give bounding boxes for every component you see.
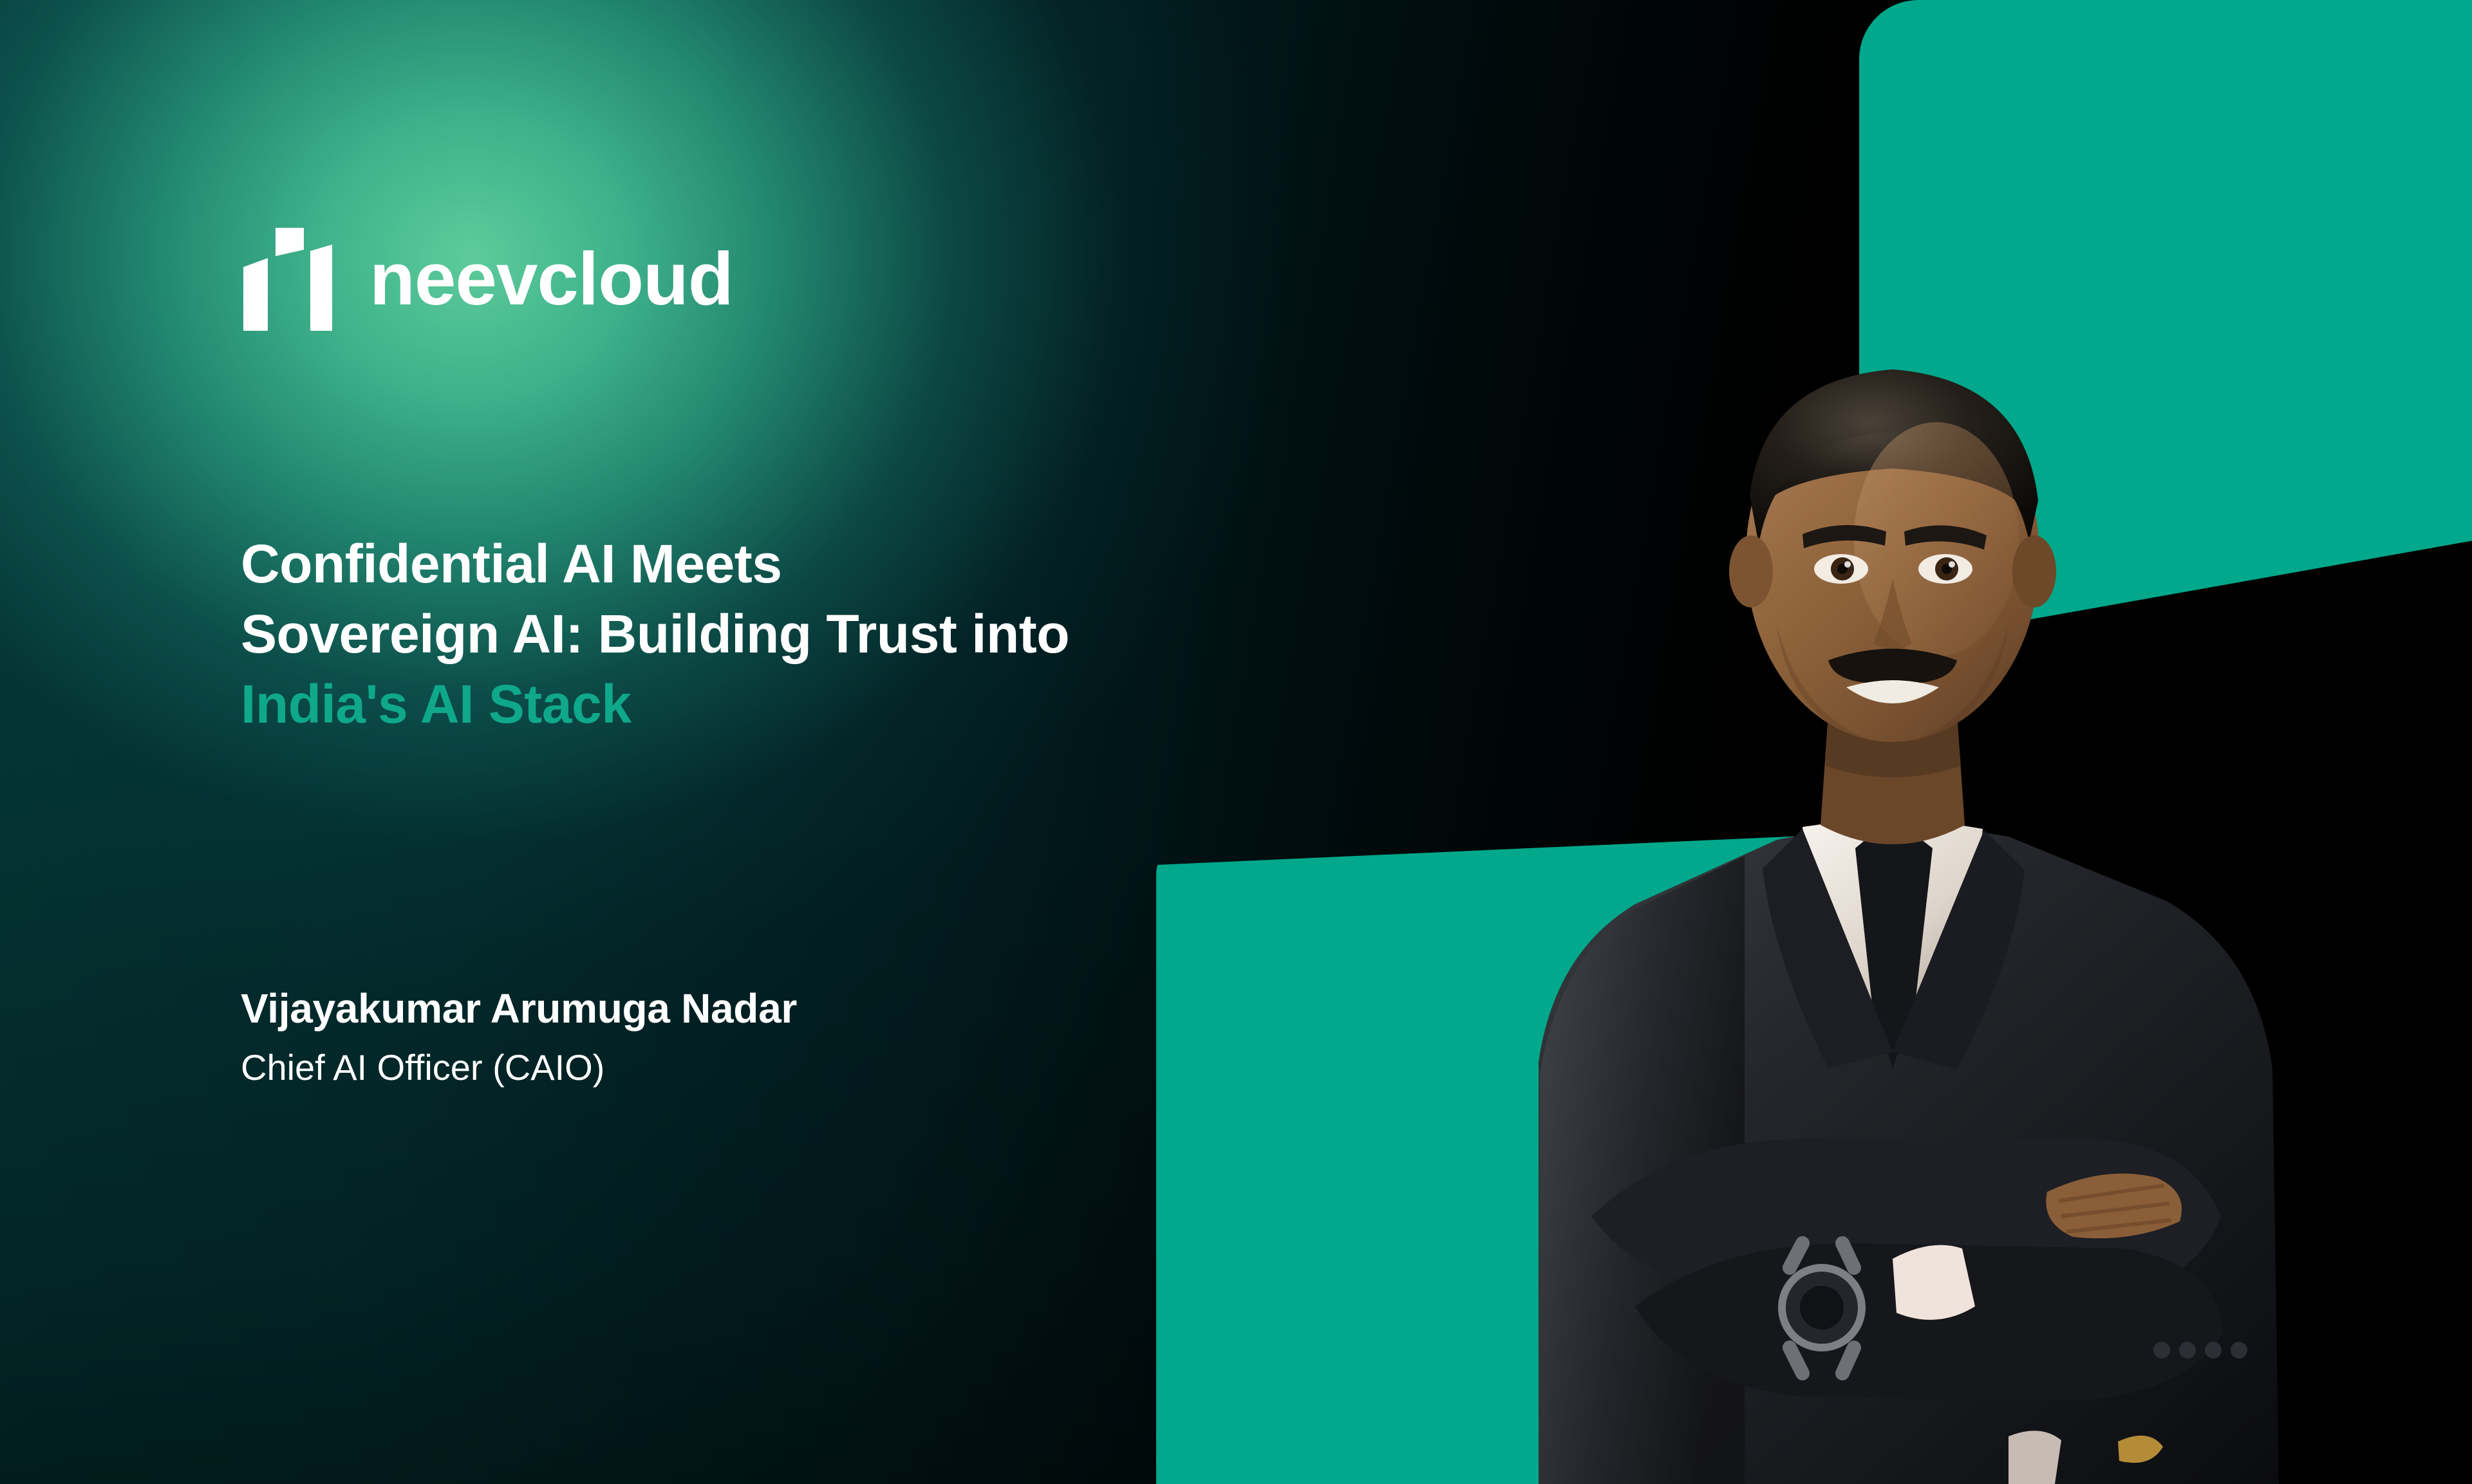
speaker-role: Chief AI Officer (CAIO) bbox=[241, 1044, 1335, 1091]
presentation-slide: neevcloud Confidential AI Meets Sovereig… bbox=[0, 0, 2472, 1484]
headline-line-3-accent: India's AI Stack bbox=[241, 669, 1464, 739]
headline: Confidential AI Meets Sovereign AI: Buil… bbox=[241, 529, 1464, 740]
speaker-portrait bbox=[1442, 302, 2356, 1484]
headline-line-2: Sovereign AI: Building Trust into bbox=[241, 599, 1464, 669]
neevcloud-buildings-icon bbox=[239, 227, 336, 331]
brand-logo: neevcloud bbox=[239, 227, 733, 331]
brand-wordmark: neevcloud bbox=[370, 241, 733, 316]
headline-line-1: Confidential AI Meets bbox=[241, 529, 1464, 599]
speaker-block: Vijayakumar Arumuga Nadar Chief AI Offic… bbox=[241, 983, 1335, 1091]
speaker-name: Vijayakumar Arumuga Nadar bbox=[241, 983, 1335, 1034]
